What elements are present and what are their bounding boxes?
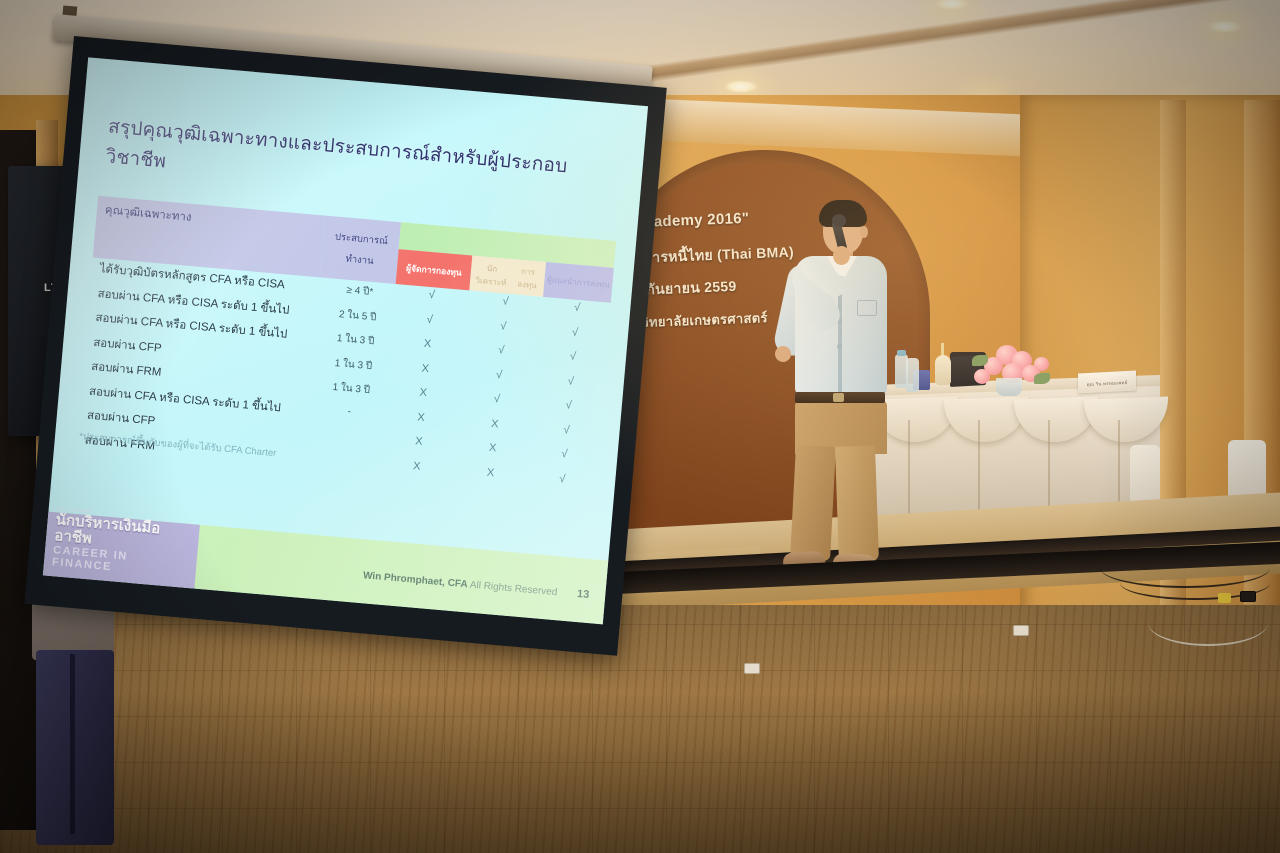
table-skirt-pleat — [908, 420, 910, 518]
power-cable-white — [1148, 600, 1268, 646]
header-experience-line2: ทำงาน — [345, 252, 374, 269]
row-experience: 1 ใน 3 ปี — [320, 354, 387, 375]
row-fund-manager: X — [396, 360, 455, 377]
row-advisor: √ — [537, 421, 596, 438]
row-experience: 1 ใน 3 ปี — [322, 330, 389, 351]
shirt-pocket — [857, 300, 877, 316]
belt-buckle — [833, 393, 844, 402]
row-analyst: X — [463, 440, 522, 457]
row-analyst: √ — [468, 391, 527, 408]
rose — [974, 369, 990, 384]
row-experience: 1 ใน 3 ปี — [318, 379, 385, 400]
row-fund-manager: X — [390, 433, 449, 450]
row-advisor: √ — [544, 348, 603, 365]
row-advisor: √ — [535, 446, 594, 463]
row-fund-manager: X — [392, 409, 451, 426]
chair-cover — [1130, 445, 1160, 501]
foliage — [1034, 373, 1050, 384]
row-advisor: √ — [539, 397, 598, 414]
audience-chair — [16, 588, 114, 853]
water-bottle — [906, 358, 919, 392]
ceiling-downlight — [1208, 20, 1242, 33]
row-advisor: √ — [548, 299, 607, 316]
table-skirt-pleat — [978, 420, 980, 518]
row-experience: 2 ใน 5 ปี — [324, 305, 391, 326]
row-advisor: √ — [546, 324, 605, 341]
rose — [1034, 357, 1049, 371]
slide-page-number: 13 — [577, 588, 590, 601]
candle-lamp — [935, 355, 951, 385]
yellow-plug — [1218, 593, 1231, 603]
presenter-ear — [860, 226, 868, 238]
floor-outlet — [1240, 591, 1256, 602]
shirt-button — [837, 344, 842, 349]
floor-outlet — [744, 663, 760, 674]
header-role-advisor: ผู้แนะนำการลงทุน — [543, 262, 614, 303]
name-card: คุณ วิน พรหมแพทย์ — [1078, 370, 1136, 393]
chair-seam — [70, 654, 75, 834]
row-fund-manager: X — [398, 335, 457, 352]
microphone-head — [832, 214, 846, 227]
row-advisor: √ — [533, 470, 592, 487]
projector-screen-frame: สรุปคุณวุฒิเฉพาะทางและประสบการณ์สำหรับผู… — [24, 36, 666, 656]
row-analyst: √ — [474, 318, 533, 335]
header-experience: ประสบการณ์ ทำงาน — [320, 216, 401, 284]
floor-shading — [0, 605, 1280, 853]
header-experience-line1: ประสบการณ์ — [334, 230, 388, 250]
name-card-text: คุณ วิน พรหมแพทย์ — [1078, 370, 1136, 388]
row-fund-manager: X — [394, 384, 453, 401]
row-experience: ≥ 4 ปี* — [326, 281, 393, 302]
presenter-right-hand — [833, 246, 850, 265]
row-experience: - — [316, 403, 383, 420]
header-role-analyst-line1: นักวิเคราะห์ — [472, 260, 512, 289]
chair-upholstery — [36, 650, 114, 845]
row-analyst: √ — [470, 366, 529, 383]
presenter-left-leg — [790, 445, 836, 561]
row-advisor: √ — [541, 373, 600, 390]
row-fund-manager: √ — [400, 311, 459, 328]
presenter — [775, 196, 905, 566]
projector-screen-surface: สรุปคุณวุฒิเฉพาะทางและประสบการณ์สำหรับผู… — [43, 57, 648, 624]
row-analyst: X — [465, 415, 524, 432]
slide-title: สรุปคุณวุฒิเฉพาะทางและประสบการณ์สำหรับผู… — [104, 111, 627, 216]
seminar-room-photo: Academy 2016" ตราสารหนี้ไทย (Thai BMA) 1… — [0, 0, 1280, 853]
slide-logo-badge: SEC/CMDF นักบริหารเงินมืออาชีพ CAREER IN… — [43, 512, 200, 589]
row-analyst: √ — [476, 293, 535, 310]
floor-outlet — [1013, 625, 1029, 636]
flower-vase — [996, 378, 1022, 396]
presenter-right-leg — [835, 445, 879, 562]
row-analyst: √ — [472, 342, 531, 359]
table-skirt-pleat — [1048, 420, 1050, 518]
presenter-left-hand — [775, 346, 791, 362]
foliage — [972, 355, 988, 366]
header-role-analyst-line2: การลงทุน — [511, 264, 543, 293]
row-fund-manager: √ — [402, 287, 461, 304]
ceiling-downlight — [724, 80, 758, 93]
